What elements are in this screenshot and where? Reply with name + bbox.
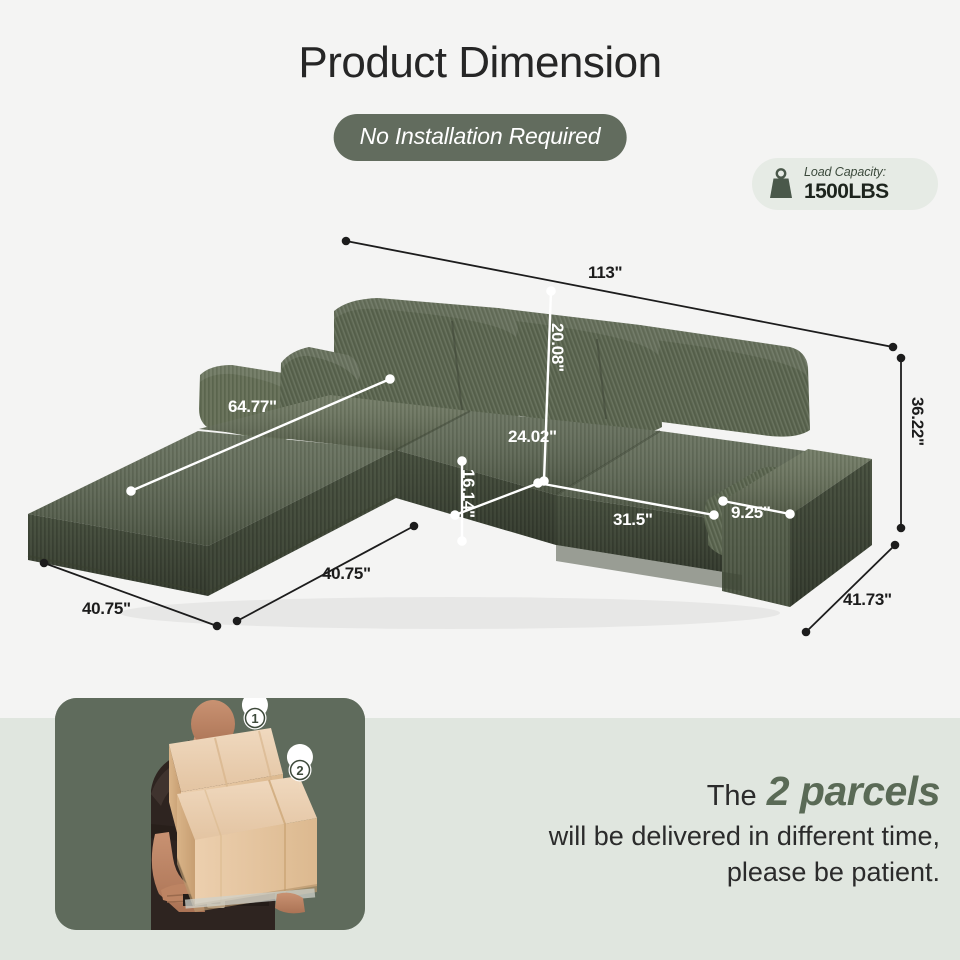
weight-icon — [766, 168, 796, 200]
sofa-svg — [0, 215, 960, 655]
product-dimension-infographic: Product Dimension No Installation Requir… — [0, 0, 960, 960]
delivery-photo-svg: 1 2 — [55, 698, 365, 930]
delivery-headline: The2 parcels — [400, 768, 940, 815]
sofa-illustration — [0, 215, 960, 655]
load-capacity-badge: Load Capacity: 1500LBS — [752, 158, 938, 210]
dimension-section: Product Dimension No Installation Requir… — [0, 0, 960, 718]
delivery-highlight: 2 parcels — [767, 768, 940, 814]
delivery-line-three: please be patient. — [400, 855, 940, 891]
delivery-lead: The — [707, 780, 757, 812]
parcel-marker-1-label: 1 — [251, 711, 258, 726]
parcel-box-2 — [177, 776, 317, 912]
page-title: Product Dimension — [0, 38, 960, 88]
capacity-text: Load Capacity: 1500LBS — [804, 166, 889, 202]
capacity-label: Load Capacity: — [804, 166, 889, 179]
capacity-value: 1500LBS — [804, 181, 889, 202]
parcel-marker-2-label: 2 — [296, 763, 303, 778]
delivery-line-two: will be delivered in different time, — [400, 819, 940, 855]
no-installation-badge: No Installation Required — [334, 114, 627, 161]
delivery-message: The2 parcels will be delivered in differ… — [400, 768, 940, 890]
delivery-photo: 1 2 — [55, 698, 365, 930]
